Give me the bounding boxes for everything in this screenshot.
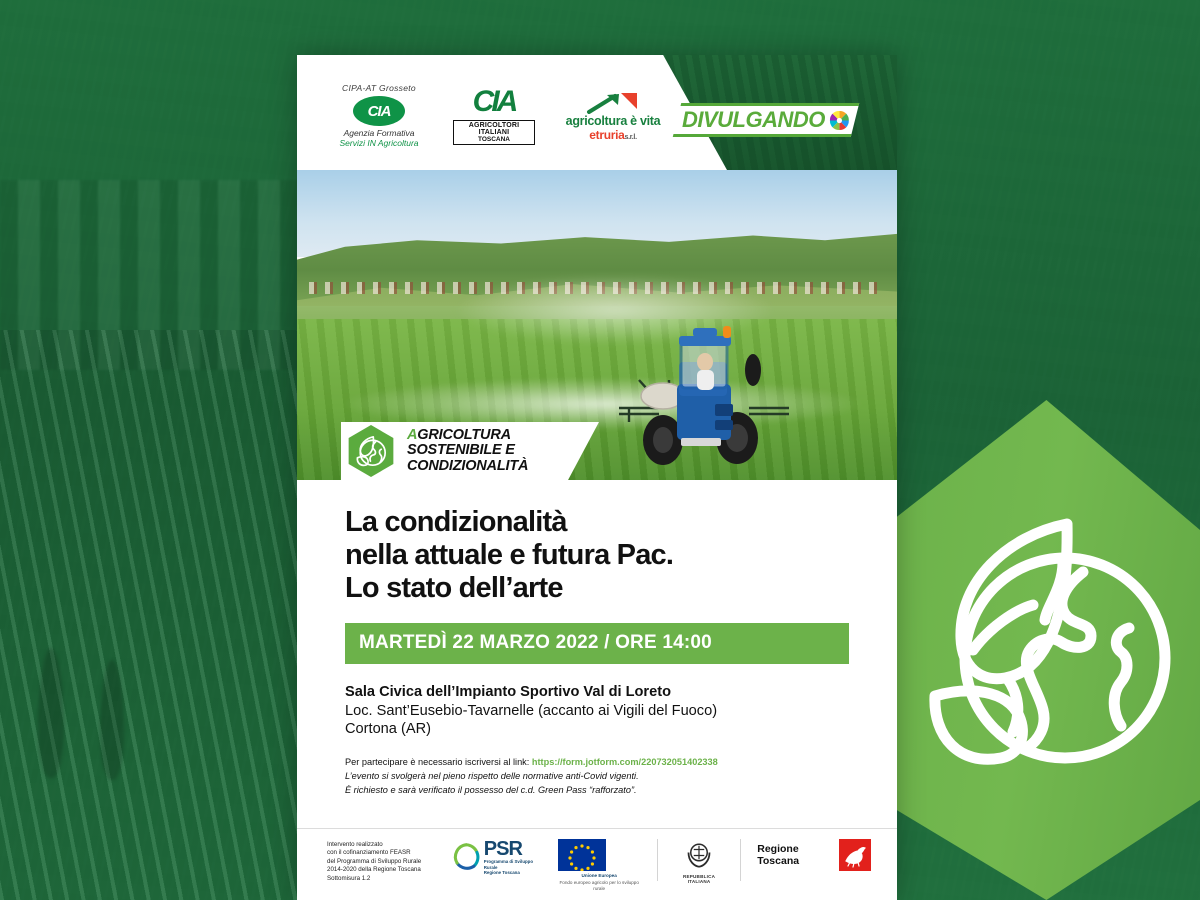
leaf-globe-icon	[354, 434, 388, 468]
hero-photo: AGRICOLTURA SOSTENIBILE E CONDIZIONALITÀ	[297, 170, 897, 480]
logo-repubblica-italiana: REPUBBLICA ITALIANA	[674, 839, 725, 884]
ri-caption: REPUBBLICA ITALIANA	[674, 874, 725, 884]
aev-line1: agricoltura è vita	[557, 114, 669, 128]
logo-cipa-at-grosseto: CIPA-AT Grosseto CIA Agenzia Formativa S…	[327, 83, 431, 148]
venue-line-2: Loc. Sant’Eusebio-Tavarnelle (accanto ai…	[345, 702, 849, 721]
registration-prefix: Per partecipare è necessario iscriversi …	[345, 757, 532, 767]
venue-block: Sala Civica dell’Impianto Sportivo Val d…	[345, 683, 849, 739]
badge-accent-letter: A	[407, 427, 417, 443]
badge-text: AGRICOLTURA SOSTENIBILE E CONDIZIONALITÀ	[407, 428, 528, 475]
psr-sub-2: Regione Toscana	[484, 870, 542, 876]
greenpass-note: È richiesto e sarà verificato il possess…	[345, 783, 849, 797]
cipa-line2: Servizi IN Agricoltura	[327, 138, 431, 148]
divulgando-label: DIVULGANDO	[682, 107, 825, 133]
psr-word: PSR	[484, 839, 542, 859]
aev-line2: etruria	[589, 128, 624, 142]
eu-flag-icon	[558, 839, 606, 871]
divulgando-logo: DIVULGANDO	[673, 103, 859, 137]
leaf-globe-icon	[915, 510, 1175, 770]
sustainability-badge: AGRICOLTURA SOSTENIBILE E CONDIZIONALITÀ	[297, 422, 528, 480]
logo-psr: PSR Programma di Sviluppo Rurale Regione…	[451, 839, 541, 876]
cipa-arc-text: CIPA-AT Grosseto	[327, 83, 431, 95]
registration-note: Per partecipare è necessario iscriversi …	[345, 755, 849, 769]
eu-subcaption: Fondo europeo agricolo per lo sviluppo r…	[558, 880, 641, 891]
registration-link[interactable]: https://form.jotform.com/220732051402338	[532, 757, 718, 767]
poster-header: CIPA-AT Grosseto CIA Agenzia Formativa S…	[297, 55, 897, 170]
psr-ring-icon	[451, 840, 482, 874]
footer-divider	[740, 839, 741, 881]
page-title: La condizionalità nella attuale e futura…	[345, 506, 849, 605]
cia-line2: TOSCANA	[454, 136, 534, 143]
aev-suffix: s.r.l.	[625, 134, 637, 141]
partner-logos: CIPA-AT Grosseto CIA Agenzia Formativa S…	[327, 83, 669, 148]
cipa-mark: CIA	[353, 96, 405, 126]
arrow-icon	[557, 92, 669, 114]
regione-toscana-label: Regione Toscana	[757, 843, 831, 867]
logo-unione-europea: Unione Europea Fondo europeo agricolo pe…	[558, 839, 641, 891]
title-line-2: nella attuale e futura Pac.	[345, 539, 849, 572]
badge-line1: GRICOLTURA	[417, 427, 511, 443]
covid-note: L’evento si svolgerà nel pieno rispetto …	[345, 769, 849, 783]
logo-cia-toscana: CIA AGRICOLTORI ITALIANI TOSCANA	[453, 87, 535, 145]
event-date-bar: MARTEDÌ 22 MARZO 2022 / ORE 14:00	[345, 623, 849, 664]
tractor-illustration	[619, 322, 789, 472]
venue-line-1: Sala Civica dell’Impianto Sportivo Val d…	[345, 683, 849, 702]
logo-agricoltura-e-vita: agricoltura è vita etrurias.r.l.	[557, 90, 669, 142]
notes-block: Per partecipare è necessario iscriversi …	[345, 755, 849, 797]
cia-mark: CIA	[453, 87, 535, 117]
cia-line1: AGRICOLTORI ITALIANI	[454, 122, 534, 136]
eu-caption: Unione Europea	[558, 873, 641, 878]
psr-sub-1: Programma di Sviluppo Rurale	[484, 859, 542, 870]
pegasus-icon	[839, 839, 871, 871]
background-vineyard-rows	[0, 330, 340, 900]
title-line-3: Lo stato dell’arte	[345, 572, 849, 605]
title-line-1: La condizionalità	[345, 506, 849, 539]
event-poster: CIPA-AT Grosseto CIA Agenzia Formativa S…	[297, 55, 897, 900]
venue-line-3: Cortona (AR)	[345, 720, 849, 739]
logo-regione-toscana: Regione Toscana	[757, 839, 871, 871]
footer-divider	[657, 839, 658, 881]
badge-line2: SOSTENIBILE E	[407, 443, 528, 459]
funding-text: Intervento realizzato con il cofinanziam…	[327, 839, 435, 883]
badge-line3: CONDIZIONALITÀ	[407, 459, 528, 475]
italian-emblem-icon	[684, 839, 714, 869]
poster-footer: Intervento realizzato con il cofinanziam…	[297, 828, 897, 900]
poster-body: La condizionalità nella attuale e futura…	[297, 480, 897, 797]
cipa-line1: Agenzia Formativa	[327, 128, 431, 138]
sdg-color-wheel-icon	[829, 110, 850, 131]
cia-caption-box: AGRICOLTORI ITALIANI TOSCANA	[453, 120, 535, 145]
